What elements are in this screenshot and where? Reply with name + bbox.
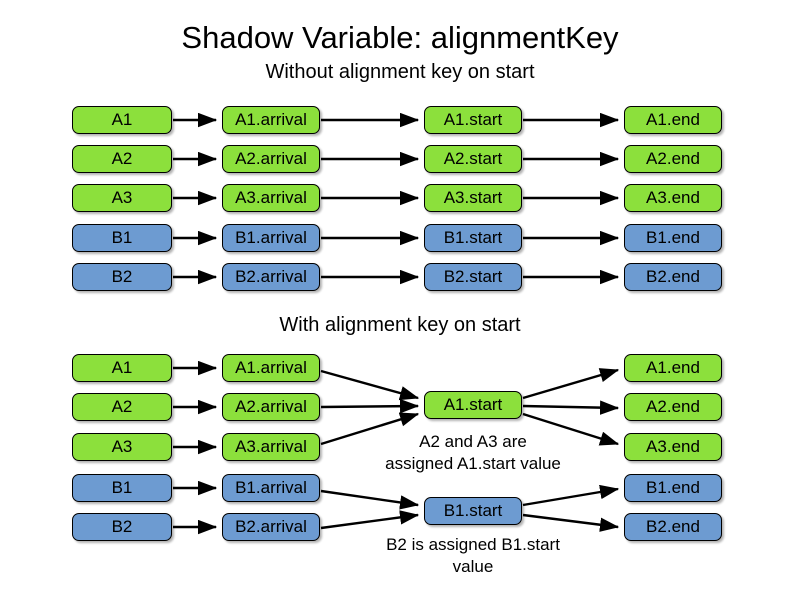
node-a1-start-with[interactable]: A1.start [424,391,522,419]
node-a3-arrival-without[interactable]: A3.arrival [222,184,320,212]
node-b2-end-with[interactable]: B2.end [624,513,722,541]
node-a3-without[interactable]: A3 [72,184,172,212]
node-b2-with[interactable]: B2 [72,513,172,541]
node-a2-without[interactable]: A2 [72,145,172,173]
node-a2-with[interactable]: A2 [72,393,172,421]
node-b2-start-without[interactable]: B2.start [424,263,522,291]
annotation-b-line2: value [333,556,613,578]
node-b2-arrival-without[interactable]: B2.arrival [222,263,320,291]
node-a1-start-without[interactable]: A1.start [424,106,522,134]
annotation-b-group: B2 is assigned B1.start value [333,534,613,578]
edges-without [0,0,800,600]
node-a2-end-with[interactable]: A2.end [624,393,722,421]
node-b2-arrival-with[interactable]: B2.arrival [222,513,320,541]
section-heading-with: With alignment key on start [0,313,800,337]
node-b1-arrival-without[interactable]: B1.arrival [222,224,320,252]
node-b1-end-without[interactable]: B1.end [624,224,722,252]
node-a2-start-without[interactable]: A2.start [424,145,522,173]
node-a1-end-with[interactable]: A1.end [624,354,722,382]
edges-with [0,0,800,600]
node-a3-start-without[interactable]: A3.start [424,184,522,212]
node-b1-start-with[interactable]: B1.start [424,497,522,525]
node-b1-without[interactable]: B1 [72,224,172,252]
node-b1-arrival-with[interactable]: B1.arrival [222,474,320,502]
node-a3-with[interactable]: A3 [72,433,172,461]
node-a1-arrival-with[interactable]: A1.arrival [222,354,320,382]
node-a2-end-without[interactable]: A2.end [624,145,722,173]
node-a1-end-without[interactable]: A1.end [624,106,722,134]
node-a1-arrival-without[interactable]: A1.arrival [222,106,320,134]
node-b2-end-without[interactable]: B2.end [624,263,722,291]
node-a3-end-without[interactable]: A3.end [624,184,722,212]
node-b1-end-with[interactable]: B1.end [624,474,722,502]
section-heading-without: Without alignment key on start [0,60,800,84]
page-title: Shadow Variable: alignmentKey [0,20,800,56]
node-a1-without[interactable]: A1 [72,106,172,134]
node-a3-end-with[interactable]: A3.end [624,433,722,461]
slide-canvas: Shadow Variable: alignmentKey Without al… [0,0,800,600]
node-a2-arrival-with[interactable]: A2.arrival [222,393,320,421]
node-b1-with[interactable]: B1 [72,474,172,502]
node-a2-arrival-without[interactable]: A2.arrival [222,145,320,173]
annotation-a-line2: assigned A1.start value [333,453,613,475]
node-b2-without[interactable]: B2 [72,263,172,291]
node-b1-start-without[interactable]: B1.start [424,224,522,252]
annotation-a-group: A2 and A3 are assigned A1.start value [333,431,613,475]
annotation-b-line1: B2 is assigned B1.start [333,534,613,556]
node-a1-with[interactable]: A1 [72,354,172,382]
node-a3-arrival-with[interactable]: A3.arrival [222,433,320,461]
annotation-a-line1: A2 and A3 are [333,431,613,453]
